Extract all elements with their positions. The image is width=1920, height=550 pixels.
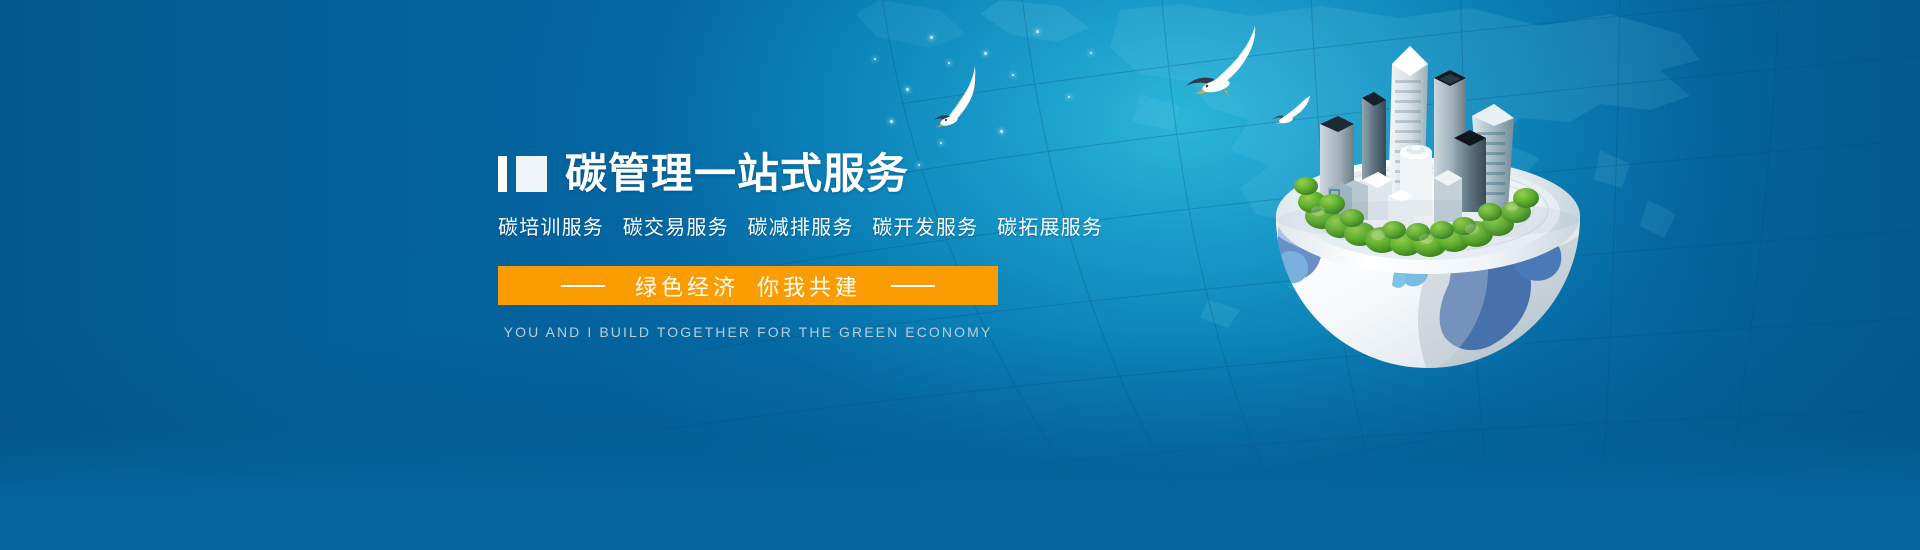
service-list: 碳培训服务 碳交易服务 碳减排服务 碳开发服务 碳拓展服务: [498, 211, 1258, 240]
service-item-5: 碳拓展服务: [997, 217, 1103, 239]
hero-banner: 碳管理一站式服务 碳培训服务 碳交易服务 碳减排服务 碳开发服务 碳拓展服务 绿…: [0, 0, 1920, 550]
seagull-left-icon: [930, 58, 1000, 128]
page-title: 碳管理一站式服务: [565, 151, 909, 197]
city-skyscrapers: [1320, 46, 1514, 226]
seagull-center-icon: [1180, 24, 1270, 106]
rule-left-icon: [561, 285, 605, 287]
slogan-text: 绿色经济你我共建: [635, 270, 861, 302]
logo-mark: [498, 156, 547, 192]
logo-bar-icon: [498, 156, 507, 192]
service-item-3: 碳减排服务: [748, 217, 854, 239]
slogan-band: 绿色经济你我共建: [498, 266, 998, 305]
rule-right-icon: [891, 285, 935, 287]
headline-row: 碳管理一站式服务: [498, 148, 1258, 200]
logo-square-icon: [516, 156, 547, 192]
english-tagline: YOU AND I BUILD TOGETHER FOR THE GREEN E…: [498, 324, 998, 340]
service-item-1: 碳培训服务: [498, 217, 604, 239]
slogan-left: 绿色经济: [635, 275, 739, 300]
service-item-4: 碳开发服务: [872, 217, 978, 239]
banner-copy: 碳管理一站式服务 碳培训服务 碳交易服务 碳减排服务 碳开发服务 碳拓展服务 绿…: [498, 148, 1258, 340]
service-item-2: 碳交易服务: [623, 217, 729, 239]
slogan-right: 你我共建: [757, 275, 861, 300]
globe-city-illustration: [1258, 20, 1598, 440]
